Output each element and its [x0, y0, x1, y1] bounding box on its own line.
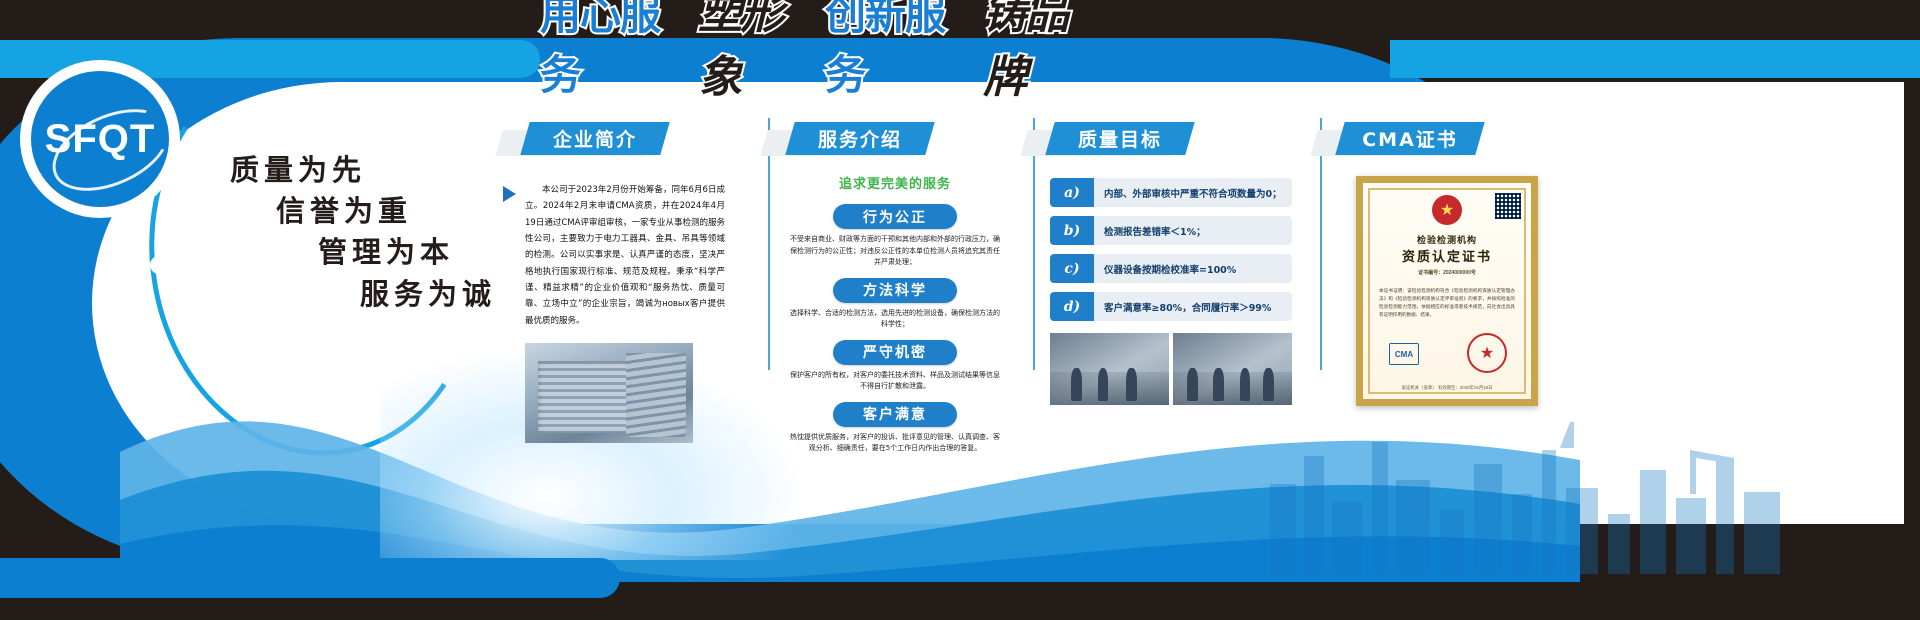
slogan-line-3: 管理为本 — [318, 232, 530, 273]
service-pill-3: 严守机密 — [833, 340, 957, 365]
service-item: 行为公正 不受来自商业、财政等方面的干预和其他内部和外部的行政压力，确保检测行为… — [790, 204, 1000, 269]
panel-cma-certificate: CMA证书 ★ 检验检测机构 资质认定证书 证书编号：2024000000号 本… — [1340, 122, 1560, 406]
panel-title-service: 服务介绍 — [790, 122, 930, 155]
goal-value-c: 仪器设备按期检校准率=100% — [1094, 254, 1292, 283]
headline-part-1: 用心服务 — [540, 0, 688, 101]
cma-mark-icon: CMA — [1389, 343, 1419, 365]
slogan-line-2: 信誉为重 — [276, 191, 530, 232]
goal-value-d: 客户满意率≥80%，合同履行率＞99% — [1094, 292, 1292, 321]
qr-code-icon — [1495, 193, 1521, 219]
service-item: 客户满意 热忱提供优质服务，对客户的投诉、批评意见的管理、认真调查、客观分析、细… — [790, 402, 1000, 455]
headline-part-2: 塑形象 — [698, 0, 815, 105]
dark-footer-strip — [0, 598, 1920, 620]
certificate-footer: 发证机关（盖章） 有效期至：2030年04月18日 — [1363, 385, 1531, 391]
panel-title-cma: CMA证书 — [1340, 122, 1480, 155]
logo-wordmark: SFQT — [45, 117, 156, 162]
headline-part-4: 铸品牌 — [983, 0, 1100, 105]
service-subtitle: 追求更完美的服务 — [790, 173, 1000, 192]
logo-circle: SFQT — [20, 60, 180, 218]
service-desc-4: 热忱提供优质服务，对客户的投诉、批评意见的管理、认真调查、客观分析、细确责任，要… — [790, 432, 1000, 455]
service-desc-1: 不受来自商业、财政等方面的干预和其他内部和外部的行政压力，确保检测行为的公正性；… — [790, 234, 1000, 269]
goal-key-b: b) — [1050, 216, 1094, 245]
company-building-photo — [525, 343, 693, 443]
goal-row: a) 内部、外部审核中严重不符合项数量为0； — [1050, 178, 1292, 207]
slogan-line-4: 服务为诚 — [360, 274, 530, 315]
bullet-triangle-icon — [503, 186, 516, 202]
certificate-body-text: 本证书证明：该检验检测机构符合《检验检测机构资质认定管理办法》和《检验检测机构资… — [1379, 287, 1515, 319]
panel-title-company: 企业简介 — [525, 122, 665, 155]
panel-company-profile: 企业简介 本公司于2023年2月份开始筹备，同年6月6日成立。2024年2月末申… — [525, 122, 725, 443]
goal-key-c: c) — [1050, 254, 1094, 283]
goal-key-d: d) — [1050, 292, 1094, 321]
goal-row: c) 仪器设备按期检校准率=100% — [1050, 254, 1292, 283]
certificate-title-line1: 资质认定证书 — [1363, 246, 1531, 265]
certificate-org-label: 检验检测机构 — [1363, 233, 1531, 246]
slogan-block: 质量为先 信誉为重 管理为本 服务为诚 — [230, 150, 530, 315]
service-desc-3: 保护客户的所有权，对客户的委托技术资料、样品及测试结果等信息不得自行扩散和泄露。 — [790, 370, 1000, 393]
panel-header-quality: 质量目标 — [1050, 122, 1300, 156]
slogan-line-1: 质量为先 — [230, 150, 530, 191]
national-emblem-icon: ★ — [1432, 195, 1462, 225]
certificate-number: 证书编号：2024000000号 — [1363, 269, 1531, 276]
headline-part-3: 创新服务 — [825, 0, 973, 101]
goal-row: d) 客户满意率≥80%，合同履行率＞99% — [1050, 292, 1292, 321]
panel-quality-goals: 质量目标 a) 内部、外部审核中严重不符合项数量为0； b) 检测报告差错率＜1… — [1050, 122, 1300, 405]
cma-certificate-image: ★ 检验检测机构 资质认定证书 证书编号：2024000000号 本证书证明：该… — [1356, 176, 1538, 406]
lab-photo-1 — [1050, 333, 1169, 405]
lab-photo-2 — [1173, 333, 1292, 405]
goal-value-a: 内部、外部审核中严重不符合项数量为0； — [1094, 178, 1292, 207]
company-paragraph: 本公司于2023年2月份开始筹备，同年6月6日成立。2024年2月末申请CMA资… — [525, 182, 725, 329]
main-headline: 用心服务 塑形象 创新服务 铸品牌 — [540, 10, 1100, 72]
blue-bottom-bar — [0, 558, 620, 598]
service-pill-4: 客户满意 — [833, 402, 957, 427]
panel-header-cma: CMA证书 — [1340, 122, 1560, 156]
wall-design-canvas: SFQT 用心服务 塑形象 创新服务 铸品牌 质量为先 信誉为重 管理为本 服务… — [0, 0, 1920, 620]
goal-key-a: a) — [1050, 178, 1094, 207]
panel-service-intro: 服务介绍 追求更完美的服务 行为公正 不受来自商业、财政等方面的干预和其他内部和… — [790, 122, 1000, 455]
company-logo: SFQT — [12, 58, 202, 218]
service-desc-2: 选择科学、合适的检测方法，选用先进的检测设备，确保检测方法的科学性； — [790, 308, 1000, 331]
cyan-strip-right — [1390, 40, 1920, 78]
service-item: 方法科学 选择科学、合适的检测方法，选用先进的检测设备，确保检测方法的科学性； — [790, 278, 1000, 331]
city-skyline-silhouette — [1260, 394, 1800, 574]
official-red-seal-icon: ★ — [1467, 333, 1507, 373]
service-item: 严守机密 保护客户的所有权，对客户的委托技术资料、样品及测试结果等信息不得自行扩… — [790, 340, 1000, 393]
goal-row: b) 检测报告差错率＜1%； — [1050, 216, 1292, 245]
service-pill-1: 行为公正 — [833, 204, 957, 229]
goal-value-b: 检测报告差错率＜1%； — [1094, 216, 1292, 245]
panel-title-quality: 质量目标 — [1050, 122, 1190, 155]
service-pill-2: 方法科学 — [833, 278, 957, 303]
panel-header-company: 企业简介 — [525, 122, 725, 156]
panel-header-service: 服务介绍 — [790, 122, 1000, 156]
arc-dot-left — [150, 256, 168, 274]
arc-dot-top — [215, 56, 231, 72]
